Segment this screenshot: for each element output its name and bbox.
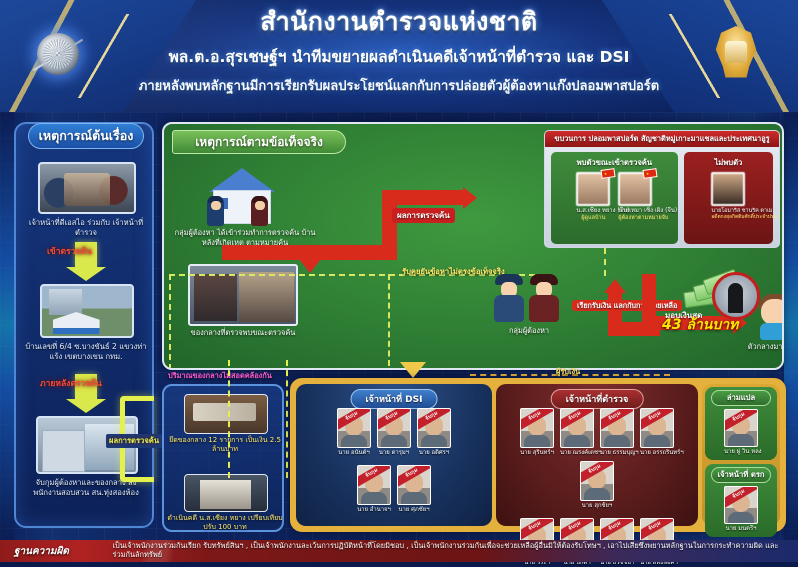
dashed-syndicate-connector xyxy=(604,248,606,276)
mugshot-card[interactable]: จับกุม นาย อรรถรินทร์ฯ xyxy=(640,408,674,457)
dashed-mismatch-connector-2 xyxy=(286,360,288,478)
misc-officials-section: ล่ามแปล จับกุม นาย ผู่ วิน หลง เจ้าหน้าท… xyxy=(702,384,780,526)
photo-house-scene xyxy=(40,284,134,338)
mismatch-label: ปริมาณของกลางไม่สอดคล้องกัน xyxy=(168,370,272,382)
syndicate-person: นายโอมาริส ซานริค ตาเม อดีตกงสุลกิตติมศั… xyxy=(711,172,745,221)
arrow-search-result-down xyxy=(222,245,397,260)
mugshot-name: นาย ดารุมฯ xyxy=(377,450,411,457)
origin-events-title: เหตุการณ์ต้นเรื่อง xyxy=(28,123,144,149)
header-subtitle-1: พล.ต.อ.สุรเชษฐ์ฯ นำทีมขยายผลดำเนินคดีเจ้… xyxy=(0,44,798,69)
arrest-stamp: จับกุม xyxy=(580,461,614,483)
dsi-section-title: เจ้าหน้าที่ DSI xyxy=(351,389,438,409)
charges-label: ฐานความผิด xyxy=(0,544,112,559)
arrest-stamp: จับกุม xyxy=(417,408,451,430)
dashed-mid-connector xyxy=(388,274,390,366)
arrest-stamp: จับกุม xyxy=(560,408,594,430)
police-section-title: เจ้าหน้าที่ตำรวจ xyxy=(551,389,644,409)
pointer-triangle xyxy=(400,362,426,378)
mugshot-name: นาย สุกช้ยฯ xyxy=(580,503,614,510)
dashed-mismatch-connector xyxy=(228,360,230,478)
officer-figure-dsi xyxy=(207,196,224,226)
dashed-label-mismatch-charge: รับคุยยันข้อหาไม่ตรงข้อเท็จจริง xyxy=(402,266,505,278)
arrest-stamp: จับกุม xyxy=(724,486,758,508)
mugshot-name: นาย ณรงค์เดชฯ xyxy=(560,450,594,457)
evidence-bracket-label: ผลการตรวจค้น xyxy=(106,434,162,448)
house-illustration xyxy=(199,168,287,226)
syndicate-box: ขบวนการ ปลอมพาสปอร์ต สัญชาติหมู่เกาะมาแช… xyxy=(544,130,780,248)
arrest-stamp: จับกุม xyxy=(337,408,371,430)
syndicate-notfound-title: ไม่พบตัว xyxy=(687,155,770,172)
middleman-caption: ตัวกลางมารับเงิน xyxy=(734,342,784,352)
syndicate-person: น.ส.เซียง หยาง (จีน) ผู้ดูแลบ้าน xyxy=(576,172,610,222)
mugshot-card[interactable]: จับกุม นาย ผู่ วิน หลง xyxy=(724,409,758,456)
arrest-stamp: จับกุม xyxy=(397,465,431,487)
mugshot-card[interactable]: จับกุม นาย อดิศรฯ xyxy=(417,408,451,457)
mugshot-name: นาย มนตรีฯ xyxy=(724,526,758,533)
photo-officers-scene xyxy=(38,162,136,214)
arrest-stamp: จับกุม xyxy=(520,518,554,540)
interpreter-title: ล่ามแปล xyxy=(711,390,771,406)
officer-figure-police xyxy=(251,196,268,226)
arrest-stamp: จับกุม xyxy=(357,465,391,487)
interpreter-card[interactable]: ล่ามแปล จับกุม นาย ผู่ วิน หลง xyxy=(705,387,777,460)
mugshot-card[interactable]: จับกุม นาย สุรินทร์ฯ xyxy=(520,408,554,457)
facts-panel: เหตุการณ์ตามข้อเท็จจริง กลุ่มผู้ต้องหา ไ… xyxy=(162,122,784,370)
syndicate-person-role: อดีตกงสุลกิตติมศักดิ์ประจำประเทศไทย xyxy=(711,215,745,221)
evidence-item-2: ดำเนินคดี น.ส.เซียง หยาง เปรียบเทียบปรับ… xyxy=(166,514,284,533)
origin-step-1-arrow-label: เข้าตรวจค้น xyxy=(47,244,92,258)
origin-step-1-caption: เจ้าหน้าที่ดีเอสไอ ร่วมกับ เจ้าหน้าที่ตำ… xyxy=(24,218,148,239)
mugshot-name: นาย อดิศรฯ xyxy=(417,450,451,457)
syndicate-person: นายเหมา เซิ่ง เผิง (จีน) ผู้ต้องหาตามหมา… xyxy=(618,172,652,222)
dsi-mugshot-grid: จับกุม นาย อนันต์ฯ จับกุม นาย ดารุมฯ จับ… xyxy=(296,408,492,514)
arrow-cash-stem xyxy=(642,274,656,330)
evidence-item-1: ยึดของกลาง 12 รายการ เป็นเงิน 2.5 ล้านบา… xyxy=(166,436,284,455)
syndicate-found-group: พบตัวขณะเข้าตรวจค้น น.ส.เซียง หยาง (จีน)… xyxy=(551,152,678,244)
mugshot-name: นาย อรรถรินทร์ฯ xyxy=(640,450,674,457)
china-flag-icon xyxy=(643,168,658,179)
mugshot-card[interactable]: จับกุม นาย ศุภชัยฯ xyxy=(397,465,431,514)
suspects-caption: กลุ่มผู้ต้องหา xyxy=(484,326,574,336)
immigration-officer-title: เจ้าหน้าที่ ตรก xyxy=(711,467,771,483)
suspect-officer-police xyxy=(529,274,559,322)
mugshot-name: นาย ศุภชัยฯ xyxy=(397,507,431,514)
arrest-stamp: จับกุม xyxy=(520,408,554,430)
page-title: สำนักงานตำรวจแห่งชาติ xyxy=(0,8,798,37)
syndicate-notfound-group: ไม่พบตัว นายโอมาริส ซานริค ตาเม อดีตกงสุ… xyxy=(684,152,773,244)
mugshot-card[interactable]: จับกุม นาย อนันต์ฯ xyxy=(337,408,371,457)
header-subtitle-2: ภายหลังพบหลักฐานมีการเรียกรับผลประโยชน์แ… xyxy=(0,75,798,96)
charges-footer: ฐานความผิด เป็นเจ้าพนักงานร่วมกันเรียก ร… xyxy=(0,540,798,562)
mugshot-card[interactable]: จับกุม นาย มนตรีฯ xyxy=(724,486,758,533)
arrest-stamp: จับกุม xyxy=(640,518,674,540)
arrest-stamp: จับกุม xyxy=(724,409,758,431)
search-result-label: ผลการตรวจค้น xyxy=(392,208,455,223)
arrested-officials-panel: เจ้าหน้าที่ DSI จับกุม นาย อนันต์ฯ จับกุ… xyxy=(290,378,786,532)
mugshot-name: นาย สุรินทร์ฯ xyxy=(520,450,554,457)
right-edge-strip xyxy=(784,112,798,540)
origin-step-2-caption: บ้านเลขที่ 6/4 ซ.บางขันธ์ 2 แขวงท่าแร้ง … xyxy=(22,342,150,363)
photo-suspect-processing xyxy=(184,474,268,512)
left-edge-strip xyxy=(0,112,14,540)
suspect-officer-dsi xyxy=(494,274,524,322)
dashed-left-connector xyxy=(169,274,171,370)
mugshot-name: นาย อนันต์ฯ xyxy=(337,450,371,457)
mugshot-name: นาย ธรรมบุญฯ xyxy=(600,450,634,457)
mugshot-card[interactable]: จับกุม นาย ณรงค์เดชฯ xyxy=(560,408,594,457)
syndicate-person-role: ผู้ต้องหาตามหมายจับ xyxy=(618,215,652,222)
immigration-officer-card[interactable]: เจ้าหน้าที่ ตรก จับกุม นาย มนตรีฯ xyxy=(705,464,777,537)
facts-panel-title: เหตุการณ์ตามข้อเท็จจริง xyxy=(172,130,346,154)
group-photo-caption: ของกลางที่ตรวจพบขณะตรวจค้น xyxy=(174,328,312,338)
middleman-figure xyxy=(756,294,784,340)
header-text-block: สำนักงานตำรวจแห่งชาติ พล.ต.อ.สุรเชษฐ์ฯ น… xyxy=(0,8,798,96)
police-officials-section: เจ้าหน้าที่ตำรวจ จับกุม นาย สุรินทร์ฯ จั… xyxy=(496,384,698,526)
syndicate-person-role: ผู้ดูแลบ้าน xyxy=(576,215,610,222)
arrest-stamp: จับกุม xyxy=(600,408,634,430)
arrest-stamp: จับกุม xyxy=(600,518,634,540)
mugshot-card[interactable]: จับกุม นาย สุกช้ยฯ xyxy=(580,461,614,510)
dsi-officials-section: เจ้าหน้าที่ DSI จับกุม นาย อนันต์ฯ จับกุ… xyxy=(296,384,492,526)
suspect-officers-figures xyxy=(494,274,559,322)
photo-seized-items xyxy=(184,394,268,434)
arrest-stamp: จับกุม xyxy=(377,408,411,430)
mugshot-name: นาย ผู่ วิน หลง xyxy=(724,449,758,456)
arrest-stamp: จับกุม xyxy=(640,408,674,430)
china-flag-icon xyxy=(601,168,616,179)
receiver-label: ผู้รับเงิน xyxy=(556,366,580,378)
mugshot-card[interactable]: จับกุม นาย อำนาจฯ xyxy=(357,465,391,514)
page-header: สำนักงานตำรวจแห่งชาติ พล.ต.อ.สุรเชษฐ์ฯ น… xyxy=(0,0,798,112)
origin-step-2-arrow-label: ภายหลังตรวจค้น xyxy=(40,376,102,390)
evidence-results-box: ยึดของกลาง 12 รายการ เป็นเงิน 2.5 ล้านบา… xyxy=(162,384,284,532)
syndicate-header: ขบวนการ ปลอมพาสปอร์ต สัญชาติหมู่เกาะมาแช… xyxy=(545,131,779,147)
mugshot-card[interactable]: จับกุม นาย ดารุมฯ xyxy=(377,408,411,457)
mugshot-card[interactable]: จับกุม นาย ธรรมบุญฯ xyxy=(600,408,634,457)
charges-text: เป็นเจ้าพนักงานร่วมกันเรียก รับทรัพย์สิน… xyxy=(112,542,798,560)
arrest-stamp: จับกุม xyxy=(560,518,594,540)
mugshot-name: นาย อำนาจฯ xyxy=(357,507,391,514)
photo-middleman-circle xyxy=(712,272,760,320)
